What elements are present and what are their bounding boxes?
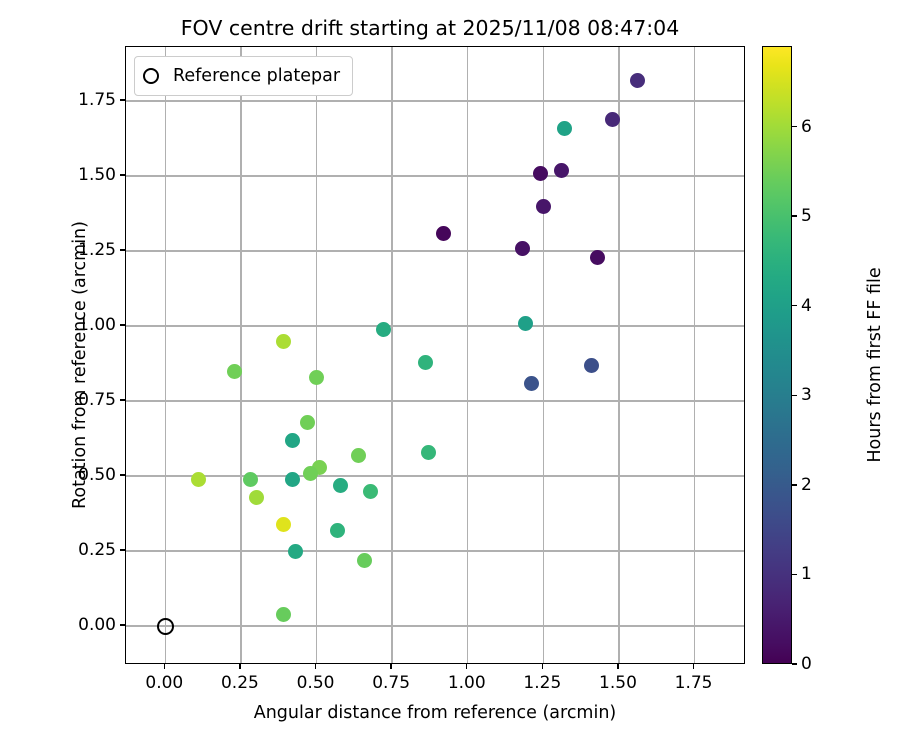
y-axis-tick: [120, 399, 125, 400]
colorbar-tick-label: 3: [801, 385, 812, 405]
y-axis-tick: [120, 99, 125, 100]
y-axis-tick: [120, 549, 125, 550]
reference-platepar-marker-icon: [143, 68, 159, 84]
x-axis-tick: [542, 664, 543, 669]
x-axis-tick-label: 1.50: [599, 673, 637, 693]
gridline-horizontal: [126, 325, 744, 326]
scatter-point: [554, 163, 569, 178]
scatter-point: [436, 226, 451, 241]
gridline-vertical: [694, 47, 695, 663]
x-axis-tick-label: 0.00: [145, 673, 183, 693]
scatter-point: [533, 166, 548, 181]
scatter-point: [557, 121, 572, 136]
colorbar-tick-label: 2: [801, 475, 812, 495]
x-axis-tick-label: 0.50: [297, 673, 335, 693]
colorbar-tick: [792, 574, 797, 575]
gridline-horizontal: [126, 175, 744, 176]
scatter-point: [333, 478, 348, 493]
colorbar-tick: [792, 215, 797, 216]
y-axis-tick: [120, 324, 125, 325]
scatter-point: [518, 316, 533, 331]
colorbar-tick-label: 1: [801, 564, 812, 584]
scatter-point: [351, 448, 366, 463]
colorbar-tick: [792, 305, 797, 306]
colorbar-tick: [792, 126, 797, 127]
scatter-point: [285, 472, 300, 487]
gridline-horizontal: [126, 100, 744, 101]
colorbar-gradient: [762, 46, 792, 664]
x-axis-tick: [164, 664, 165, 669]
scatter-point: [300, 415, 315, 430]
colorbar: 0123456: [762, 46, 792, 664]
x-axis-tick-label: 0.75: [372, 673, 410, 693]
x-axis-tick: [617, 664, 618, 669]
gridline-vertical: [316, 47, 317, 663]
colorbar-tick: [792, 395, 797, 396]
gridline-horizontal: [126, 475, 744, 476]
gridline-vertical: [467, 47, 468, 663]
colorbar-label: Hours from first FF file: [865, 55, 885, 675]
y-axis-tick: [120, 249, 125, 250]
colorbar-tick-label: 4: [801, 296, 812, 316]
colorbar-tick-label: 6: [801, 117, 812, 137]
gridline-vertical: [543, 47, 544, 663]
reference-platepar-point: [157, 618, 174, 635]
gridline-horizontal: [126, 550, 744, 551]
y-axis-tick: [120, 474, 125, 475]
page-title: FOV centre drift starting at 2025/11/08 …: [120, 16, 740, 40]
y-axis-tick: [120, 174, 125, 175]
colorbar-tick-label: 5: [801, 206, 812, 226]
scatter-point: [309, 370, 324, 385]
scatter-point: [330, 523, 345, 538]
scatter-point: [363, 484, 378, 499]
scatter-point: [285, 433, 300, 448]
gridline-vertical: [391, 47, 392, 663]
x-axis-tick-label: 1.75: [675, 673, 713, 693]
gridline-vertical: [165, 47, 166, 663]
scatter-point: [276, 517, 291, 532]
x-axis-tick-label: 0.25: [221, 673, 259, 693]
scatter-point: [418, 355, 433, 370]
chart-figure: FOV centre drift starting at 2025/11/08 …: [0, 0, 900, 750]
scatter-point: [243, 472, 258, 487]
gridline-vertical: [240, 47, 241, 663]
y-axis-tick: [120, 624, 125, 625]
scatter-point: [191, 472, 206, 487]
x-axis-tick: [466, 664, 467, 669]
gridline-horizontal: [126, 400, 744, 401]
scatter-point: [303, 466, 318, 481]
x-axis-tick: [239, 664, 240, 669]
plot-area: [125, 46, 745, 664]
x-axis-tick: [315, 664, 316, 669]
gridline-horizontal: [126, 625, 744, 626]
scatter-point: [584, 358, 599, 373]
scatter-point: [357, 553, 372, 568]
scatter-point: [515, 241, 530, 256]
scatter-point: [376, 322, 391, 337]
scatter-point: [524, 376, 539, 391]
scatter-point: [276, 607, 291, 622]
scatter-point: [288, 544, 303, 559]
gridline-vertical: [618, 47, 619, 663]
colorbar-tick: [792, 484, 797, 485]
scatter-point: [421, 445, 436, 460]
scatter-point: [605, 112, 620, 127]
x-axis-label: Angular distance from reference (arcmin): [125, 703, 745, 723]
x-axis-tick-label: 1.00: [448, 673, 486, 693]
x-axis-tick: [390, 664, 391, 669]
x-axis-tick: [693, 664, 694, 669]
scatter-point: [276, 334, 291, 349]
scatter-point: [590, 250, 605, 265]
colorbar-tick: [792, 663, 797, 664]
scatter-point: [249, 490, 264, 505]
scatter-point: [536, 199, 551, 214]
y-axis-label: Rotation from reference (arcmin): [70, 55, 90, 675]
x-axis-tick-label: 1.25: [523, 673, 561, 693]
gridline-horizontal: [126, 250, 744, 251]
colorbar-tick-label: 0: [801, 654, 812, 674]
legend-item-label: Reference platepar: [173, 66, 340, 86]
legend: Reference platepar: [134, 56, 353, 96]
scatter-point: [630, 73, 645, 88]
scatter-point: [227, 364, 242, 379]
